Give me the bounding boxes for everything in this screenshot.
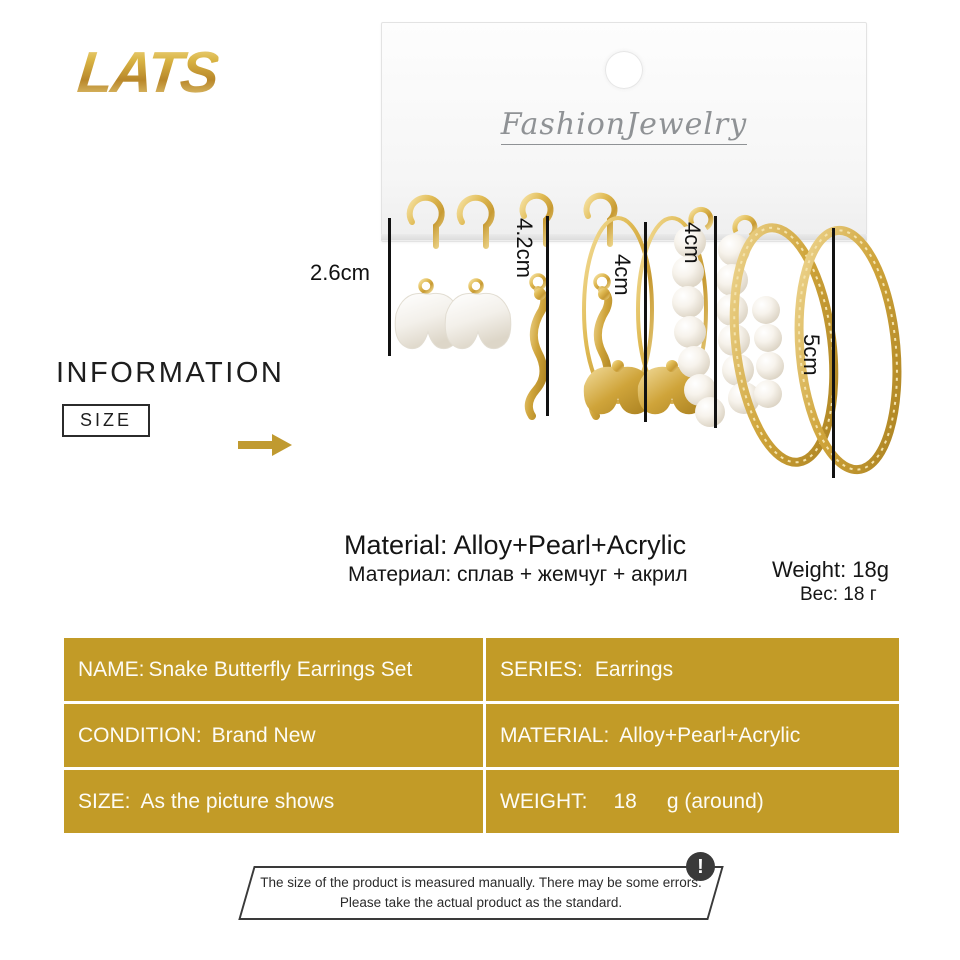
spec-value-weight: 18 bbox=[614, 790, 637, 814]
spec-value-material: Alloy+Pearl+Acrylic bbox=[619, 724, 800, 748]
measure-label-3: 4cm bbox=[609, 254, 635, 296]
spec-value-name: Snake Butterfly Earrings Set bbox=[149, 658, 413, 682]
note-line-1: The size of the product is measured manu… bbox=[260, 873, 701, 893]
pearl-accent-on-hoop bbox=[752, 296, 784, 408]
gold-arrow-icon bbox=[238, 432, 292, 458]
spec-row-size: SIZE: As the picture shows bbox=[64, 770, 483, 833]
product-photo: FashionJewelry bbox=[300, 10, 920, 510]
spec-key-series: SERIES: bbox=[500, 658, 583, 682]
material-russian: Материал: сплав + жемчуг + акрил bbox=[348, 563, 688, 587]
measure-label-2: 4.2cm bbox=[511, 218, 537, 278]
spec-value-size: As the picture shows bbox=[141, 790, 335, 814]
footer-note: The size of the product is measured manu… bbox=[246, 866, 716, 920]
weight-russian: Вес: 18 г bbox=[800, 584, 877, 606]
spec-unit-weight: g (around) bbox=[667, 790, 764, 814]
information-heading: INFORMATION bbox=[56, 357, 284, 390]
measure-label-1: 2.6cm bbox=[310, 260, 370, 286]
measure-line-4 bbox=[714, 216, 717, 428]
weight-english: Weight: 18g bbox=[772, 557, 889, 583]
spec-row-material: MATERIAL: Alloy+Pearl+Acrylic bbox=[486, 704, 899, 767]
spec-key-material: MATERIAL: bbox=[500, 724, 609, 748]
measure-line-3 bbox=[644, 222, 647, 422]
spec-key-name: NAME: bbox=[78, 658, 145, 682]
material-english: Material: Alloy+Pearl+Acrylic bbox=[344, 530, 686, 561]
note-line-2: Please take the actual product as the st… bbox=[340, 893, 622, 913]
spec-key-condition: CONDITION: bbox=[78, 724, 202, 748]
measure-line-5 bbox=[832, 228, 835, 478]
measure-line-1 bbox=[388, 218, 391, 356]
spec-row-condition: CONDITION: Brand New bbox=[64, 704, 483, 767]
spec-row-name: NAME: Snake Butterfly Earrings Set bbox=[64, 638, 483, 701]
note-text: The size of the product is measured manu… bbox=[246, 866, 716, 920]
size-tag: SIZE bbox=[62, 404, 150, 437]
spec-table: NAME: Snake Butterfly Earrings Set SERIE… bbox=[64, 638, 896, 833]
spec-key-size: SIZE: bbox=[78, 790, 131, 814]
measure-label-5: 5cm bbox=[798, 334, 824, 376]
spec-value-condition: Brand New bbox=[212, 724, 316, 748]
measure-label-4: 4cm bbox=[679, 222, 705, 264]
spec-value-series: Earrings bbox=[595, 658, 673, 682]
spec-row-series: SERIES: Earrings bbox=[486, 638, 899, 701]
spec-row-weight: WEIGHT: 18 g (around) bbox=[486, 770, 899, 833]
spec-key-weight: WEIGHT: bbox=[500, 790, 588, 814]
warning-exclamation-icon: ! bbox=[686, 852, 715, 881]
measure-line-2 bbox=[546, 216, 549, 416]
earring-butterfly-acrylic-2 bbox=[445, 198, 511, 349]
brand-logo: LATS bbox=[75, 44, 220, 102]
